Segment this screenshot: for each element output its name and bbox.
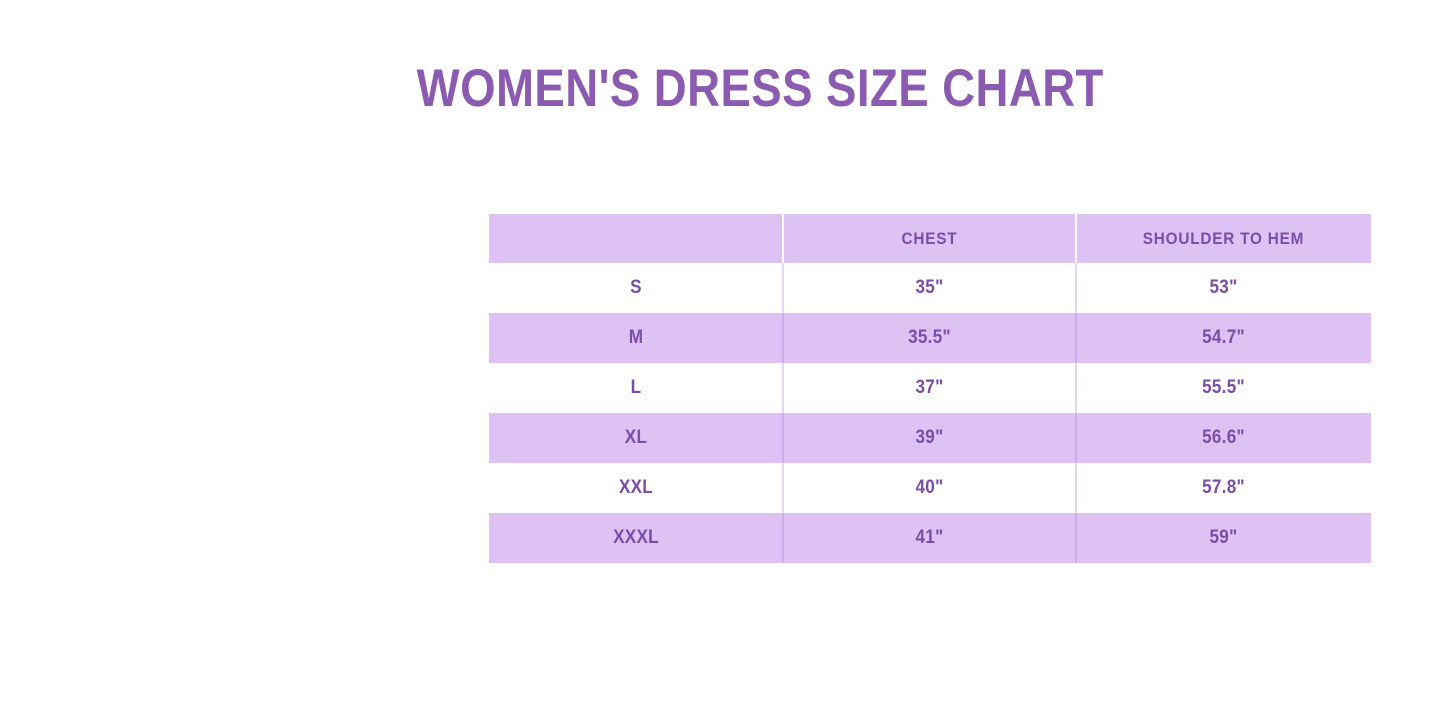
table-header-row: CHEST SHOULDER TO HEM	[489, 214, 1371, 263]
cell-shoulder-to-hem: 59"	[1076, 513, 1371, 563]
cell-shoulder-to-hem: 53"	[1076, 263, 1371, 313]
column-header-size	[489, 214, 783, 263]
table-row: XXXL 41" 59"	[489, 513, 1371, 563]
table-row: L 37" 55.5"	[489, 363, 1371, 413]
cell-chest: 35"	[783, 263, 1076, 313]
column-header-shoulder-to-hem-label: SHOULDER TO HEM	[1091, 229, 1357, 249]
cell-chest-value: 35"	[798, 277, 1062, 299]
cell-chest: 41"	[783, 513, 1076, 563]
column-header-chest-label: CHEST	[798, 229, 1062, 249]
cell-chest-value: 40"	[798, 477, 1062, 499]
cell-size-value: S	[504, 277, 769, 299]
cell-shoulder-to-hem-value: 53"	[1091, 277, 1357, 299]
table-body: S 35" 53" M 35.5" 54.7"	[489, 263, 1371, 563]
cell-size: XXXL	[489, 513, 783, 563]
size-chart-page: WOMEN'S DRESS SIZE CHART CHEST SHOULDER …	[0, 0, 1445, 723]
cell-shoulder-to-hem: 57.8"	[1076, 463, 1371, 513]
cell-size-value: M	[504, 327, 769, 349]
cell-shoulder-to-hem-value: 57.8"	[1091, 477, 1357, 499]
cell-shoulder-to-hem-value: 56.6"	[1091, 427, 1357, 449]
cell-chest-value: 39"	[798, 427, 1062, 449]
cell-size: XL	[489, 413, 783, 463]
cell-shoulder-to-hem-value: 55.5"	[1091, 377, 1357, 399]
cell-size: XXL	[489, 463, 783, 513]
cell-chest: 37"	[783, 363, 1076, 413]
table-row: M 35.5" 54.7"	[489, 313, 1371, 363]
table-row: XXL 40" 57.8"	[489, 463, 1371, 513]
cell-shoulder-to-hem-value: 54.7"	[1091, 327, 1357, 349]
cell-shoulder-to-hem-value: 59"	[1091, 527, 1357, 549]
column-header-chest: CHEST	[783, 214, 1076, 263]
table-row: S 35" 53"	[489, 263, 1371, 313]
cell-chest-value: 37"	[798, 377, 1062, 399]
cell-chest-value: 35.5"	[798, 327, 1062, 349]
cell-size-value: XXXL	[504, 527, 769, 549]
cell-shoulder-to-hem: 55.5"	[1076, 363, 1371, 413]
table-row: XL 39" 56.6"	[489, 413, 1371, 463]
page-title: WOMEN'S DRESS SIZE CHART	[0, 57, 1445, 121]
cell-chest-value: 41"	[798, 527, 1062, 549]
cell-shoulder-to-hem: 54.7"	[1076, 313, 1371, 363]
cell-size-value: XXL	[504, 477, 769, 499]
cell-chest: 39"	[783, 413, 1076, 463]
cell-chest: 40"	[783, 463, 1076, 513]
cell-size-value: XL	[504, 427, 769, 449]
size-chart-table: CHEST SHOULDER TO HEM S 35" 53"	[489, 214, 1371, 563]
cell-size: L	[489, 363, 783, 413]
cell-chest: 35.5"	[783, 313, 1076, 363]
cell-size: S	[489, 263, 783, 313]
cell-size: M	[489, 313, 783, 363]
column-header-shoulder-to-hem: SHOULDER TO HEM	[1076, 214, 1371, 263]
table-header: CHEST SHOULDER TO HEM	[489, 214, 1371, 263]
cell-shoulder-to-hem: 56.6"	[1076, 413, 1371, 463]
cell-size-value: L	[504, 377, 769, 399]
